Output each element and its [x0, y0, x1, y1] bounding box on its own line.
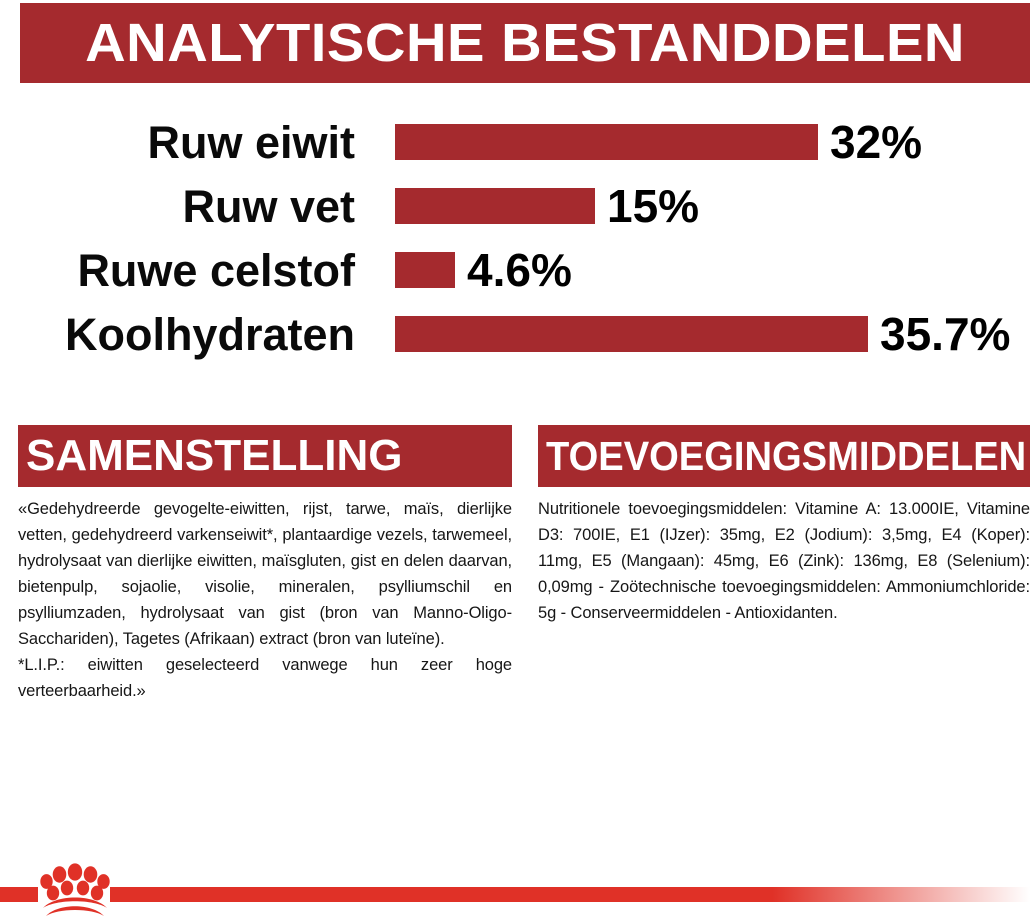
- chart-value-label: 4.6%: [467, 247, 572, 293]
- analytical-constituents-banner: ANALYTISCHE BESTANDDELEN: [20, 3, 1030, 83]
- chart-bar: [395, 316, 868, 352]
- chart-category-label: Ruw eiwit: [0, 120, 355, 165]
- chart-bar: [395, 188, 595, 224]
- footer-rule-right: [110, 887, 1030, 902]
- footer: [0, 859, 1030, 919]
- composition-paragraph: «Gedehydreerde gevogelte-eiwitten, rijst…: [18, 496, 512, 652]
- chart-row: Ruw eiwit 32%: [0, 110, 1030, 174]
- composition-heading: SAMENSTELLING: [26, 434, 402, 478]
- chart-value-label: 32%: [830, 119, 922, 165]
- chart-category-label: Ruwe celstof: [0, 248, 355, 293]
- chart-value-label: 15%: [607, 183, 699, 229]
- chart-category-label: Ruw vet: [0, 184, 355, 229]
- chart-bar-track: 35.7%: [395, 311, 1030, 357]
- chart-bar: [395, 252, 455, 288]
- chart-category-label: Koolhydraten: [0, 312, 355, 357]
- royal-canin-crown-logo: [38, 863, 112, 917]
- composition-body: «Gedehydreerde gevogelte-eiwitten, rijst…: [18, 496, 512, 704]
- chart-bar-track: 15%: [395, 183, 1030, 229]
- additives-heading-bar: TOEVOEGINGSMIDDELEN (/kg): [538, 425, 1030, 487]
- composition-footnote: *L.I.P.: eiwitten geselecteerd vanwege h…: [18, 652, 512, 704]
- chart-value-label: 35.7%: [880, 311, 1010, 357]
- analytical-constituents-chart: Ruw eiwit 32% Ruw vet 15% Ruwe celstof 4…: [0, 108, 1030, 368]
- chart-row: Ruwe celstof 4.6%: [0, 238, 1030, 302]
- page-title: ANALYTISCHE BESTANDDELEN: [85, 16, 965, 70]
- composition-column: SAMENSTELLING «Gedehydreerde gevogelte-e…: [18, 425, 512, 704]
- chart-row: Koolhydraten 35.7%: [0, 302, 1030, 366]
- chart-row: Ruw vet 15%: [0, 174, 1030, 238]
- footer-rule-left: [0, 887, 38, 902]
- chart-bar-track: 32%: [395, 119, 1030, 165]
- additives-paragraph: Nutritionele toevoegingsmiddelen: Vitami…: [538, 496, 1030, 626]
- additives-body: Nutritionele toevoegingsmiddelen: Vitami…: [538, 496, 1030, 626]
- additives-column: TOEVOEGINGSMIDDELEN (/kg) Nutritionele t…: [538, 425, 1030, 626]
- additives-heading: TOEVOEGINGSMIDDELEN: [546, 436, 1026, 477]
- chart-bar: [395, 124, 818, 160]
- chart-bar-track: 4.6%: [395, 247, 1030, 293]
- composition-heading-bar: SAMENSTELLING: [18, 425, 512, 487]
